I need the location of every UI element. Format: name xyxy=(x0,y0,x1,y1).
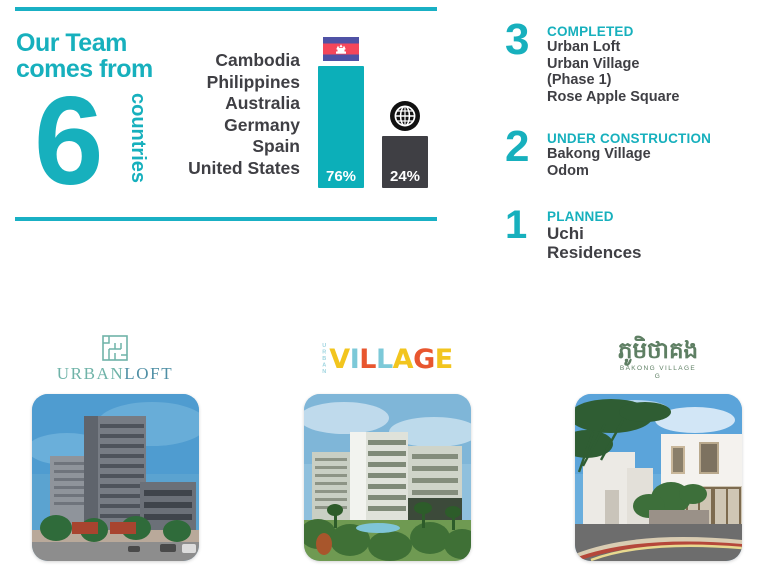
cambodia-flag-icon xyxy=(323,37,359,61)
status-title-planned: PLANNED xyxy=(547,209,760,224)
bar-column-international: 24% xyxy=(382,136,428,188)
project-card-urban-village: URBAN VILLAGE xyxy=(257,330,517,561)
village-letter: A xyxy=(393,344,413,375)
country-count-label: countries xyxy=(126,93,149,183)
status-count-planned: 1 xyxy=(505,203,525,247)
bakong-village-logo: ភូមិថាគង BAKONG VILLAGE G xyxy=(528,330,768,388)
country-list: Cambodia Philippines Australia Germany S… xyxy=(150,50,300,179)
status-group-planned: 1 PLANNED Uchi Residences xyxy=(505,209,760,262)
list-item: Germany xyxy=(150,115,300,137)
status-group-completed: 3 COMPLETED Urban Loft Urban Village (Ph… xyxy=(505,24,760,105)
project-card-urban-loft: URBANLOFT xyxy=(0,330,245,561)
village-letter: I xyxy=(350,344,360,375)
urbanloft-word-part2: LOFT xyxy=(124,364,173,383)
urbanloft-logo: URBANLOFT xyxy=(0,330,245,388)
bar-international: 24% xyxy=(382,136,428,188)
urbanloft-wordmark: URBANLOFT xyxy=(57,364,173,384)
list-item: United States xyxy=(150,158,300,180)
list-item: (Phase 1) xyxy=(547,72,760,89)
village-letter: G xyxy=(413,344,435,375)
village-small-word: URBAN xyxy=(321,343,327,376)
bar-value-cambodia: 76% xyxy=(318,168,364,185)
list-item: Cambodia xyxy=(150,50,300,72)
origin-bar-chart: 76% 24% xyxy=(318,28,438,188)
list-item: Urban Loft xyxy=(547,39,760,56)
globe-icon xyxy=(390,101,420,131)
bar-value-international: 24% xyxy=(382,168,428,185)
bakong-latin-line2: G xyxy=(620,373,696,381)
bakong-khmer-wordmark: ភូមិថាគង xyxy=(618,338,698,364)
status-title-under-construction: UNDER CONSTRUCTION xyxy=(547,131,760,146)
list-item: Odom xyxy=(547,163,760,180)
status-group-under-construction: 2 UNDER CONSTRUCTION Bakong Village Odom xyxy=(505,131,760,179)
village-wordmark: VILLAGE xyxy=(329,344,452,375)
status-count-under-construction: 2 xyxy=(505,125,527,169)
bar-column-cambodia: 76% xyxy=(318,66,364,188)
urbanloft-mark-icon xyxy=(102,335,128,361)
list-item: Uchi xyxy=(547,224,760,243)
list-item: Residences xyxy=(547,243,760,262)
list-item: Australia xyxy=(150,93,300,115)
status-items-under-construction: Bakong Village Odom xyxy=(547,146,760,179)
urbanloft-word-part1: URBAN xyxy=(57,364,125,383)
divider-bottom xyxy=(15,217,437,221)
bakong-latin-line1: BAKONG VILLAGE xyxy=(620,365,696,373)
divider-top xyxy=(15,7,437,11)
village-letter: L xyxy=(359,344,376,375)
bar-cambodia: 76% xyxy=(318,66,364,188)
list-item: Rose Apple Square xyxy=(547,89,760,106)
bakong-latin-wordmark: BAKONG VILLAGE G xyxy=(620,365,696,381)
status-items-completed: Urban Loft Urban Village (Phase 1) Rose … xyxy=(547,39,760,105)
urban-village-logo: URBAN VILLAGE xyxy=(257,330,517,388)
urban-village-photo xyxy=(304,394,471,561)
status-title-completed: COMPLETED xyxy=(547,24,760,39)
village-letter: V xyxy=(329,344,349,375)
bakong-village-photo xyxy=(575,394,742,561)
village-letter: L xyxy=(376,344,393,375)
country-count-number: 6 xyxy=(34,79,98,204)
list-item: Urban Village xyxy=(547,56,760,73)
project-gallery: URBANLOFT xyxy=(0,330,768,586)
urban-loft-photo xyxy=(32,394,199,561)
status-count-completed: 3 xyxy=(505,18,527,62)
list-item: Bakong Village xyxy=(547,146,760,163)
village-letter: E xyxy=(435,344,453,375)
project-status-panel: 3 COMPLETED Urban Loft Urban Village (Ph… xyxy=(505,24,760,282)
project-card-bakong-village: ភូមិថាគង BAKONG VILLAGE G xyxy=(528,330,768,561)
status-items-planned: Uchi Residences xyxy=(547,224,760,262)
list-item: Philippines xyxy=(150,72,300,94)
list-item: Spain xyxy=(150,136,300,158)
